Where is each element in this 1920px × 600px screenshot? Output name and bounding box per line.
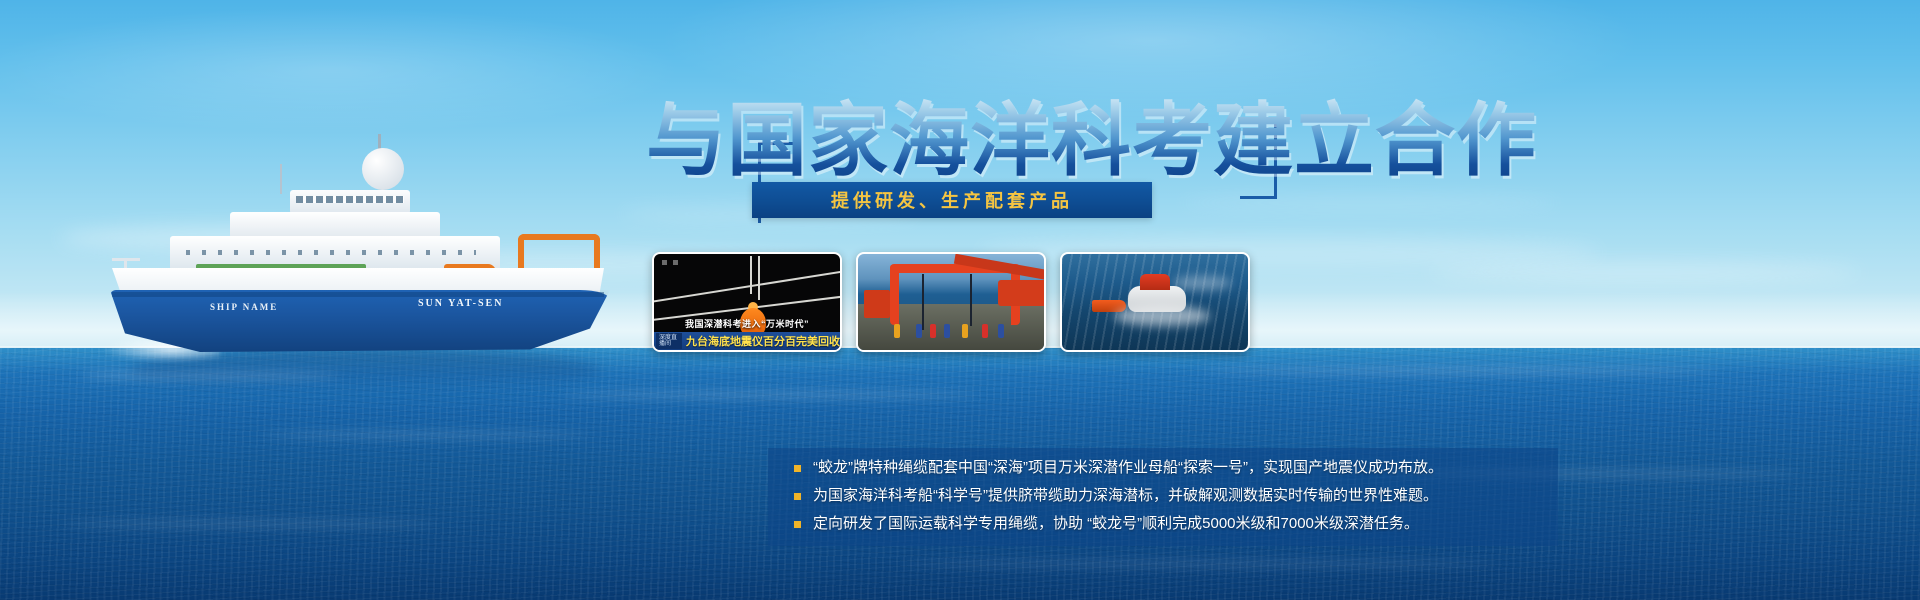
cable [758, 256, 760, 300]
crew-member-icon [894, 324, 900, 338]
crew-member-icon [962, 324, 968, 338]
antenna-mast-icon [280, 164, 282, 194]
ship-name-right: SUN YAT-SEN [418, 298, 503, 309]
photo-card-deck-crane-operation[interactable] [856, 252, 1046, 352]
photo-thumbnail-strip: 我国深潜科考进入“万米时代” 深度直播间 九台海底地震仪百分百完美回收 [652, 252, 1252, 352]
list-item: 定向研发了国际运载科学专用绳缆，协助 “蛟龙号”顺利完成5000米级和7000米… [794, 512, 1558, 536]
list-item: “蛟龙”牌特种绳缆配套中国“深海”项目万米深潜作业母船“探索一号”，实现国产地震… [794, 456, 1558, 480]
radar-dome-icon [362, 148, 404, 190]
highlight-text: 定向研发了国际运载科学专用绳缆，协助 “蛟龙号”顺利完成5000米级和7000米… [813, 512, 1419, 536]
water-glint [560, 392, 980, 398]
crane-cabin-icon [864, 290, 890, 318]
crew-member-icon [916, 324, 922, 338]
bow-mast-arm [112, 258, 140, 261]
highlight-text: 为国家海洋科考船“科学号”提供脐带缆助力深海潜标，并破解观测数据实时传输的世界性… [813, 484, 1438, 508]
water-glint [260, 432, 590, 438]
ship-superstructure-upper [230, 212, 440, 238]
water-glint [1200, 368, 1720, 374]
crane-body-icon [998, 280, 1046, 306]
highlights-panel: “蛟龙”牌特种绳缆配套中国“深海”项目万米深潜作业母船“探索一号”，实现国产地震… [768, 448, 1558, 546]
research-vessel: SHIP NAME SUN YAT-SEN [100, 140, 620, 380]
bullet-square-icon [794, 493, 801, 500]
highlight-text: “蛟龙”牌特种绳缆配套中国“深海”项目万米深潜作业母船“探索一号”，实现国产地震… [813, 456, 1443, 480]
photo-card-submersible-sea-surface[interactable] [1060, 252, 1250, 352]
list-item: 为国家海洋科考船“科学号”提供脐带缆助力深海潜标，并破解观测数据实时传输的世界性… [794, 484, 1558, 508]
ship-name-left: SHIP NAME [210, 302, 278, 312]
photo-caption-bar: 深度直播间 九台海底地震仪百分百完美回收 [654, 332, 840, 350]
subtitle-bar: 提供研发、生产配套产品 [752, 182, 1152, 218]
water-glint [60, 520, 440, 528]
subtitle-bar-label: 提供研发、生产配套产品 [831, 187, 1073, 213]
video-overlay-icon [662, 260, 684, 265]
hero-banner: SHIP NAME SUN YAT-SEN 与国家海洋科考建立合作 提供研发、生… [0, 0, 1920, 600]
bridge-windows [296, 196, 404, 203]
crew-member-icon [998, 324, 1004, 338]
crew-member-icon [982, 324, 988, 338]
photo-caption-tag: 深度直播间 [656, 333, 682, 349]
photo-card-deep-sea-submersible-news[interactable]: 我国深潜科考进入“万米时代” 深度直播间 九台海底地震仪百分百完美回收 [652, 252, 842, 352]
bullet-square-icon [794, 521, 801, 528]
page-title: 与国家海洋科考建立合作 [646, 96, 1537, 186]
ship-hull [110, 290, 610, 352]
photo-caption-top: 我国深潜科考进入“万米时代” [654, 317, 840, 330]
photo-caption-bottom: 九台海底地震仪百分百完美回收 [686, 333, 840, 349]
hull-stripe [112, 292, 604, 297]
water-glint [900, 560, 1500, 568]
cable [750, 256, 752, 294]
crew-member-icon [944, 324, 950, 338]
crew-member-icon [930, 324, 936, 338]
portholes [186, 250, 476, 255]
bullet-square-icon [794, 465, 801, 472]
submersible-sail-icon [1140, 274, 1170, 290]
cloud [1430, 262, 1860, 282]
sea-spray [1114, 306, 1210, 326]
